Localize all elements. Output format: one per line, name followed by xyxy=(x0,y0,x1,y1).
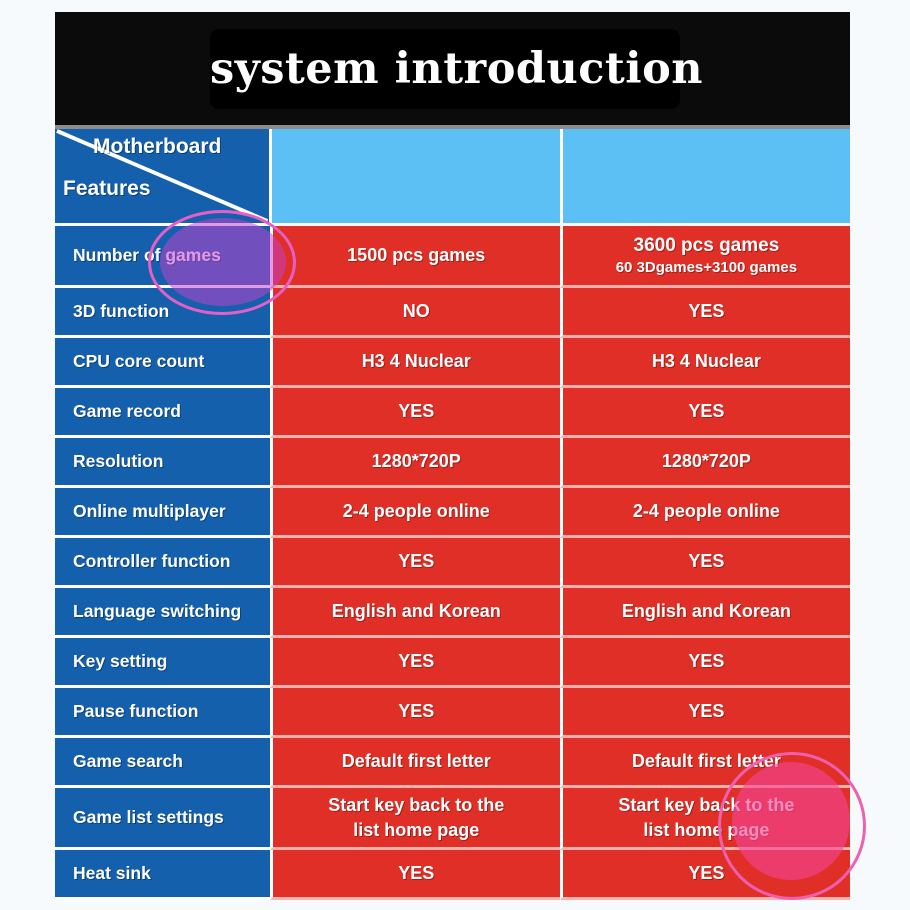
cell-3-1: YES xyxy=(560,388,850,438)
table-row: Game recordYESYES xyxy=(55,388,850,438)
cell-10-0: Default first letter xyxy=(270,738,560,788)
cell-main-text: YES xyxy=(398,649,434,673)
poster-root: system introduction Motherboard Features… xyxy=(0,0,910,910)
table-row: Game searchDefault first letterDefault f… xyxy=(55,738,850,788)
cell-main-text: Start key back to the xyxy=(618,793,794,817)
row-label-5: Online multiplayer xyxy=(55,488,270,538)
table-row: Controller functionYESYES xyxy=(55,538,850,588)
cell-main-text: Start key back to the xyxy=(328,793,504,817)
cell-4-1: 1280*720P xyxy=(560,438,850,488)
comparison-table: Motherboard Features Number of games1500… xyxy=(55,125,850,890)
table-row: 3D functionNOYES xyxy=(55,288,850,338)
table-row: Online multiplayer2-4 people online2-4 p… xyxy=(55,488,850,538)
cell-0-0: 1500 pcs games xyxy=(270,226,560,288)
cell-sub-text: list home page xyxy=(643,818,769,842)
cell-6-0: YES xyxy=(270,538,560,588)
table-row: Language switchingEnglish and KoreanEngl… xyxy=(55,588,850,638)
table-row: Number of games1500 pcs games3600 pcs ga… xyxy=(55,226,850,288)
cell-7-0: English and Korean xyxy=(270,588,560,638)
cell-main-text: 2-4 people online xyxy=(343,499,490,523)
row-label-6: Controller function xyxy=(55,538,270,588)
cell-10-1: Default first letter xyxy=(560,738,850,788)
cell-12-0: YES xyxy=(270,850,560,900)
row-label-1: 3D function xyxy=(55,288,270,338)
table-header-col1 xyxy=(269,129,559,226)
cell-sub-text: 60 3Dgames+3100 games xyxy=(616,258,797,278)
table-row: Heat sinkYESYES xyxy=(55,850,850,900)
cell-sub-text: list home page xyxy=(353,818,479,842)
cell-2-0: H3 4 Nuclear xyxy=(270,338,560,388)
row-label-9: Pause function xyxy=(55,688,270,738)
table-corner-header: Motherboard Features xyxy=(55,129,269,226)
cell-main-text: 3600 pcs games xyxy=(634,233,780,259)
cell-5-0: 2-4 people online xyxy=(270,488,560,538)
cell-main-text: Default first letter xyxy=(342,749,491,773)
row-label-3: Game record xyxy=(55,388,270,438)
title-plate: system introduction xyxy=(210,29,680,109)
corner-header-top-label: Motherboard xyxy=(93,135,221,159)
cell-1-0: NO xyxy=(270,288,560,338)
row-label-2: CPU core count xyxy=(55,338,270,388)
cell-main-text: 1280*720P xyxy=(662,449,751,473)
cell-main-text: 1500 pcs games xyxy=(347,243,485,267)
row-label-11: Game list settings xyxy=(55,788,270,850)
cell-main-text: YES xyxy=(688,299,724,323)
cell-8-1: YES xyxy=(560,638,850,688)
cell-12-1: YES xyxy=(560,850,850,900)
cell-main-text: YES xyxy=(688,649,724,673)
cell-1-1: YES xyxy=(560,288,850,338)
cell-main-text: H3 4 Nuclear xyxy=(362,349,471,373)
row-label-12: Heat sink xyxy=(55,850,270,900)
table-row: Pause functionYESYES xyxy=(55,688,850,738)
row-label-4: Resolution xyxy=(55,438,270,488)
cell-main-text: English and Korean xyxy=(332,599,501,623)
corner-header-bottom-label: Features xyxy=(63,177,151,201)
table-row: Game list settingsStart key back to thel… xyxy=(55,788,850,850)
cell-5-1: 2-4 people online xyxy=(560,488,850,538)
cell-11-0: Start key back to thelist home page xyxy=(270,788,560,850)
cell-main-text: YES xyxy=(398,549,434,573)
cell-3-0: YES xyxy=(270,388,560,438)
cell-main-text: Default first letter xyxy=(632,749,781,773)
cell-main-text: YES xyxy=(398,861,434,885)
row-label-0: Number of games xyxy=(55,226,270,288)
cell-7-1: English and Korean xyxy=(560,588,850,638)
table-row: Key settingYESYES xyxy=(55,638,850,688)
page-title: system introduction xyxy=(210,29,680,109)
cell-2-1: H3 4 Nuclear xyxy=(560,338,850,388)
table-header-col2 xyxy=(560,129,850,226)
table-header-row: Motherboard Features xyxy=(55,129,850,226)
cell-main-text: H3 4 Nuclear xyxy=(652,349,761,373)
row-label-8: Key setting xyxy=(55,638,270,688)
cell-main-text: YES xyxy=(688,549,724,573)
cell-4-0: 1280*720P xyxy=(270,438,560,488)
row-label-7: Language switching xyxy=(55,588,270,638)
table-row: Resolution1280*720P1280*720P xyxy=(55,438,850,488)
cell-main-text: NO xyxy=(403,299,430,323)
cell-8-0: YES xyxy=(270,638,560,688)
table-row: CPU core countH3 4 NuclearH3 4 Nuclear xyxy=(55,338,850,388)
cell-9-1: YES xyxy=(560,688,850,738)
cell-9-0: YES xyxy=(270,688,560,738)
cell-main-text: YES xyxy=(688,861,724,885)
cell-main-text: YES xyxy=(398,699,434,723)
cell-11-1: Start key back to thelist home page xyxy=(560,788,850,850)
cell-main-text: 2-4 people online xyxy=(633,499,780,523)
cell-main-text: YES xyxy=(688,699,724,723)
cell-main-text: YES xyxy=(688,399,724,423)
cell-6-1: YES xyxy=(560,538,850,588)
cell-main-text: YES xyxy=(398,399,434,423)
title-banner: system introduction xyxy=(55,12,850,125)
cell-main-text: 1280*720P xyxy=(372,449,461,473)
cell-main-text: English and Korean xyxy=(622,599,791,623)
cell-0-1: 3600 pcs games60 3Dgames+3100 games xyxy=(560,226,850,288)
row-label-10: Game search xyxy=(55,738,270,788)
